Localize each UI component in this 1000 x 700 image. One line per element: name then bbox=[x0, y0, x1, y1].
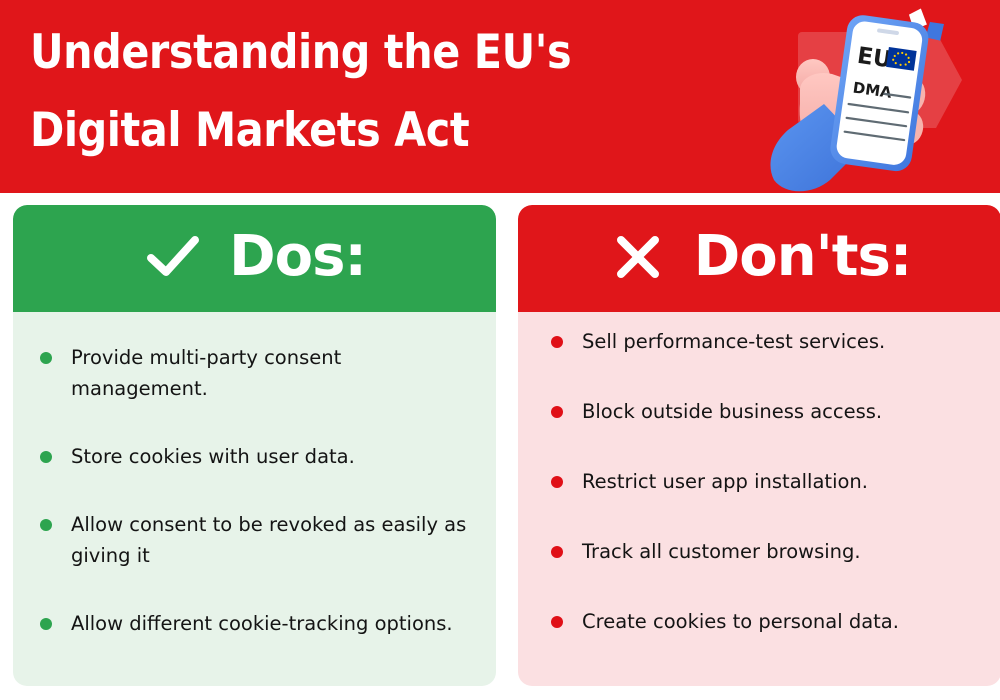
list-item: Create cookies to personal data. bbox=[538, 606, 981, 637]
list-item-label: Allow consent to be revoked as easily as… bbox=[71, 509, 476, 571]
bullet-icon bbox=[551, 406, 563, 418]
bullet-icon bbox=[551, 546, 563, 558]
dos-card-title: Dos: bbox=[229, 229, 366, 285]
list-item: Allow different cookie-tracking options. bbox=[27, 608, 476, 639]
list-item: Store cookies with user data. bbox=[27, 441, 476, 472]
page-title-line-1: Understanding the EU's bbox=[30, 14, 646, 92]
bullet-icon bbox=[40, 352, 52, 364]
donts-card: Don'ts: Sell performance-test services. … bbox=[518, 205, 1000, 686]
list-item-label: Track all customer browsing. bbox=[582, 536, 981, 567]
list-item: Provide multi-party consent management. bbox=[27, 342, 476, 404]
eu-flag-icon bbox=[886, 47, 917, 71]
list-item-label: Provide multi-party consent management. bbox=[71, 342, 476, 404]
page-title: Understanding the EU's Digital Markets A… bbox=[30, 14, 646, 170]
bullet-icon bbox=[40, 519, 52, 531]
list-item-label: Store cookies with user data. bbox=[71, 441, 476, 472]
donts-list: Sell performance-test services. Block ou… bbox=[518, 312, 1000, 637]
list-item: Allow consent to be revoked as easily as… bbox=[27, 509, 476, 571]
list-item-label: Allow different cookie-tracking options. bbox=[71, 608, 476, 639]
infographic-page: Understanding the EU's Digital Markets A… bbox=[0, 0, 1000, 700]
hand-holding-phone-illustration: EU bbox=[760, 4, 1000, 193]
donts-card-title: Don'ts: bbox=[694, 229, 911, 285]
header-banner: Understanding the EU's Digital Markets A… bbox=[0, 0, 1000, 193]
list-item-label: Block outside business access. bbox=[582, 396, 981, 427]
bullet-icon bbox=[40, 451, 52, 463]
list-item: Sell performance-test services. bbox=[538, 326, 981, 357]
list-item: Block outside business access. bbox=[538, 396, 981, 427]
dos-card-header: Dos: bbox=[13, 205, 496, 312]
dos-list: Provide multi-party consent management. … bbox=[13, 312, 496, 639]
bullet-icon bbox=[551, 476, 563, 488]
list-item-label: Sell performance-test services. bbox=[582, 326, 981, 357]
bullet-icon bbox=[40, 618, 52, 630]
list-item-label: Create cookies to personal data. bbox=[582, 606, 981, 637]
donts-card-header: Don'ts: bbox=[518, 205, 1000, 312]
cross-icon bbox=[608, 227, 668, 287]
bullet-icon bbox=[551, 336, 563, 348]
list-item-label: Restrict user app installation. bbox=[582, 466, 981, 497]
dos-card: Dos: Provide multi-party consent managem… bbox=[13, 205, 496, 686]
bullet-icon bbox=[551, 616, 563, 628]
page-title-line-2: Digital Markets Act bbox=[30, 92, 646, 170]
list-item: Restrict user app installation. bbox=[538, 466, 981, 497]
check-icon bbox=[143, 227, 203, 287]
list-item: Track all customer browsing. bbox=[538, 536, 981, 567]
